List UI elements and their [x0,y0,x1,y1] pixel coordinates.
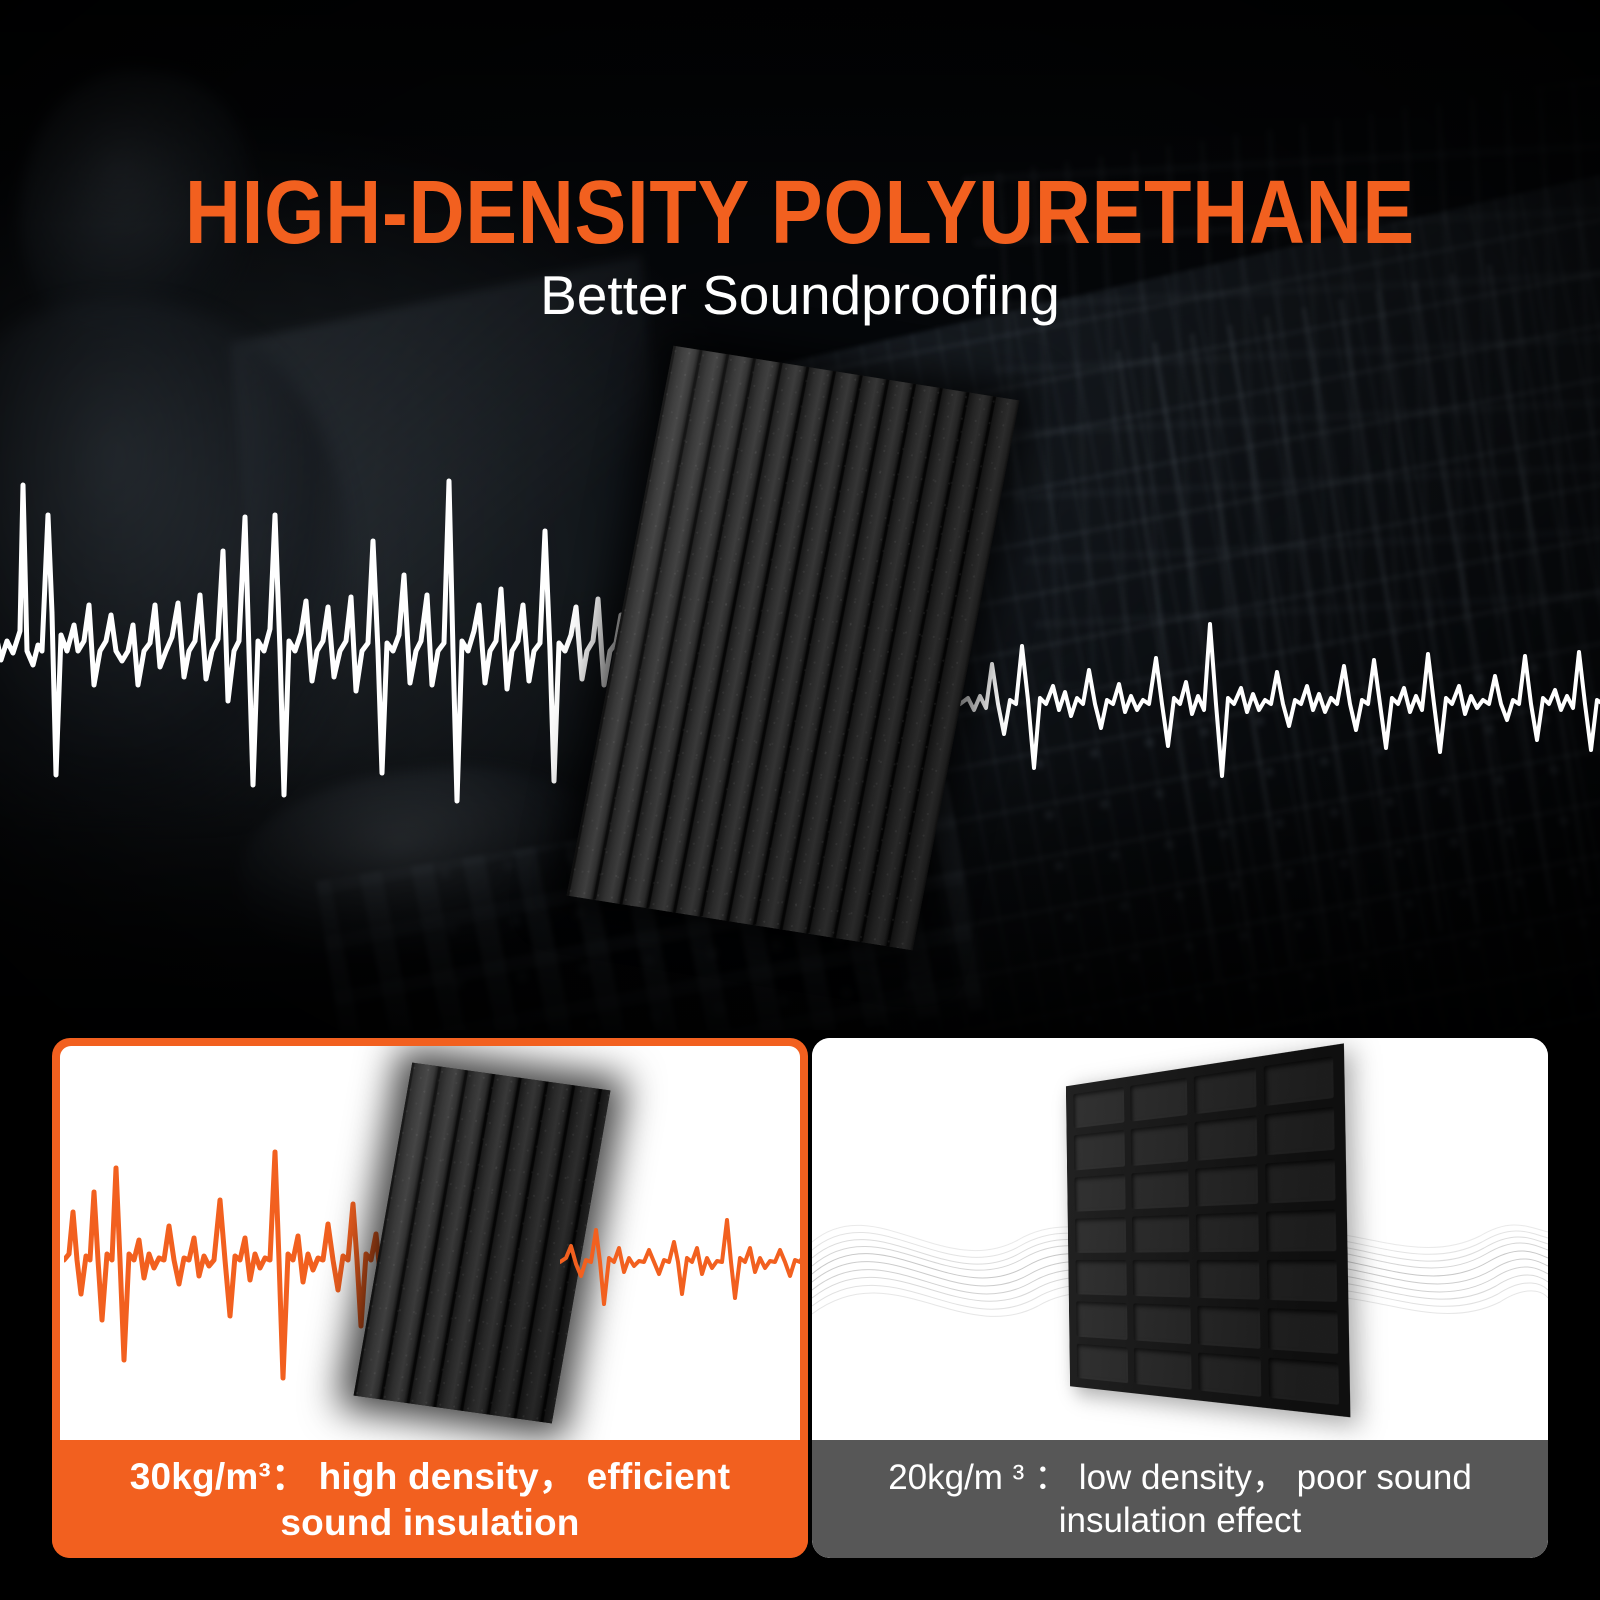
foam-grid-surface [1066,1043,1351,1417]
low-density-caption: 20kg/m ³ ： low density， poor sound insul… [812,1440,1548,1558]
foam-cell [1131,1123,1188,1165]
page-subtitle: Better Soundproofing [0,268,1600,323]
foam-cell [1196,1260,1259,1300]
foam-cell [1266,1209,1337,1252]
foam-cell [1267,1309,1338,1354]
foam-cell [1076,1260,1128,1296]
foam-cell [1194,1116,1257,1161]
foam-cell [1195,1164,1258,1207]
foam-cell [1076,1302,1128,1340]
high-density-outgoing-waveform-icon [560,1186,800,1336]
low-density-foam-panel [1068,1086,1348,1386]
high-density-illustration [60,1046,800,1440]
foam-cell [1267,1260,1338,1302]
foam-cell [1134,1348,1191,1390]
comparison-card-high-density: 30kg/m³： high density， efficient sound i… [52,1038,808,1558]
foam-cell [1197,1306,1260,1348]
low-density-caption-line2: insulation effect [1059,1501,1302,1540]
foam-cell [1074,1130,1125,1170]
low-density-illustration [812,1038,1548,1440]
foam-cell [1268,1357,1339,1405]
foam-cell [1198,1352,1261,1397]
foam-cell [1075,1217,1126,1253]
page-title: HIGH-DENSITY POLYURETHANE [112,168,1488,258]
hero-section: HIGH-DENSITY POLYURETHANE Better Soundpr… [0,0,1600,1030]
foam-cell [1264,1107,1335,1155]
comparison-card-low-density: 20kg/m ³ ： low density， poor sound insul… [812,1038,1548,1558]
foam-cell [1133,1260,1190,1298]
attenuated-sound-waveform-icon [960,600,1600,800]
high-density-caption-line1: 30kg/m³： high density， efficient [130,1456,731,1497]
foam-cell [1132,1169,1189,1209]
foam-cell [1193,1067,1256,1114]
low-density-caption-line1: 20kg/m ³ ： low density， poor sound [888,1458,1472,1497]
foam-cell [1077,1343,1129,1383]
foam-cell [1130,1078,1187,1122]
foam-cell [1074,1173,1125,1211]
high-density-caption: 30kg/m³： high density， efficient sound i… [52,1440,808,1558]
foam-cell [1132,1214,1189,1252]
foam-cell [1195,1212,1258,1252]
foam-cell [1265,1158,1336,1203]
foam-cell [1133,1304,1190,1344]
foam-cell [1263,1056,1333,1106]
comparison-section: 30kg/m³： high density， efficient sound i… [0,1030,1600,1570]
product-infographic: HIGH-DENSITY POLYURETHANE Better Soundpr… [0,0,1600,1600]
incoming-sound-waveform-icon [0,455,670,845]
high-density-caption-line2: sound insulation [280,1502,579,1543]
foam-cell [1073,1087,1124,1129]
